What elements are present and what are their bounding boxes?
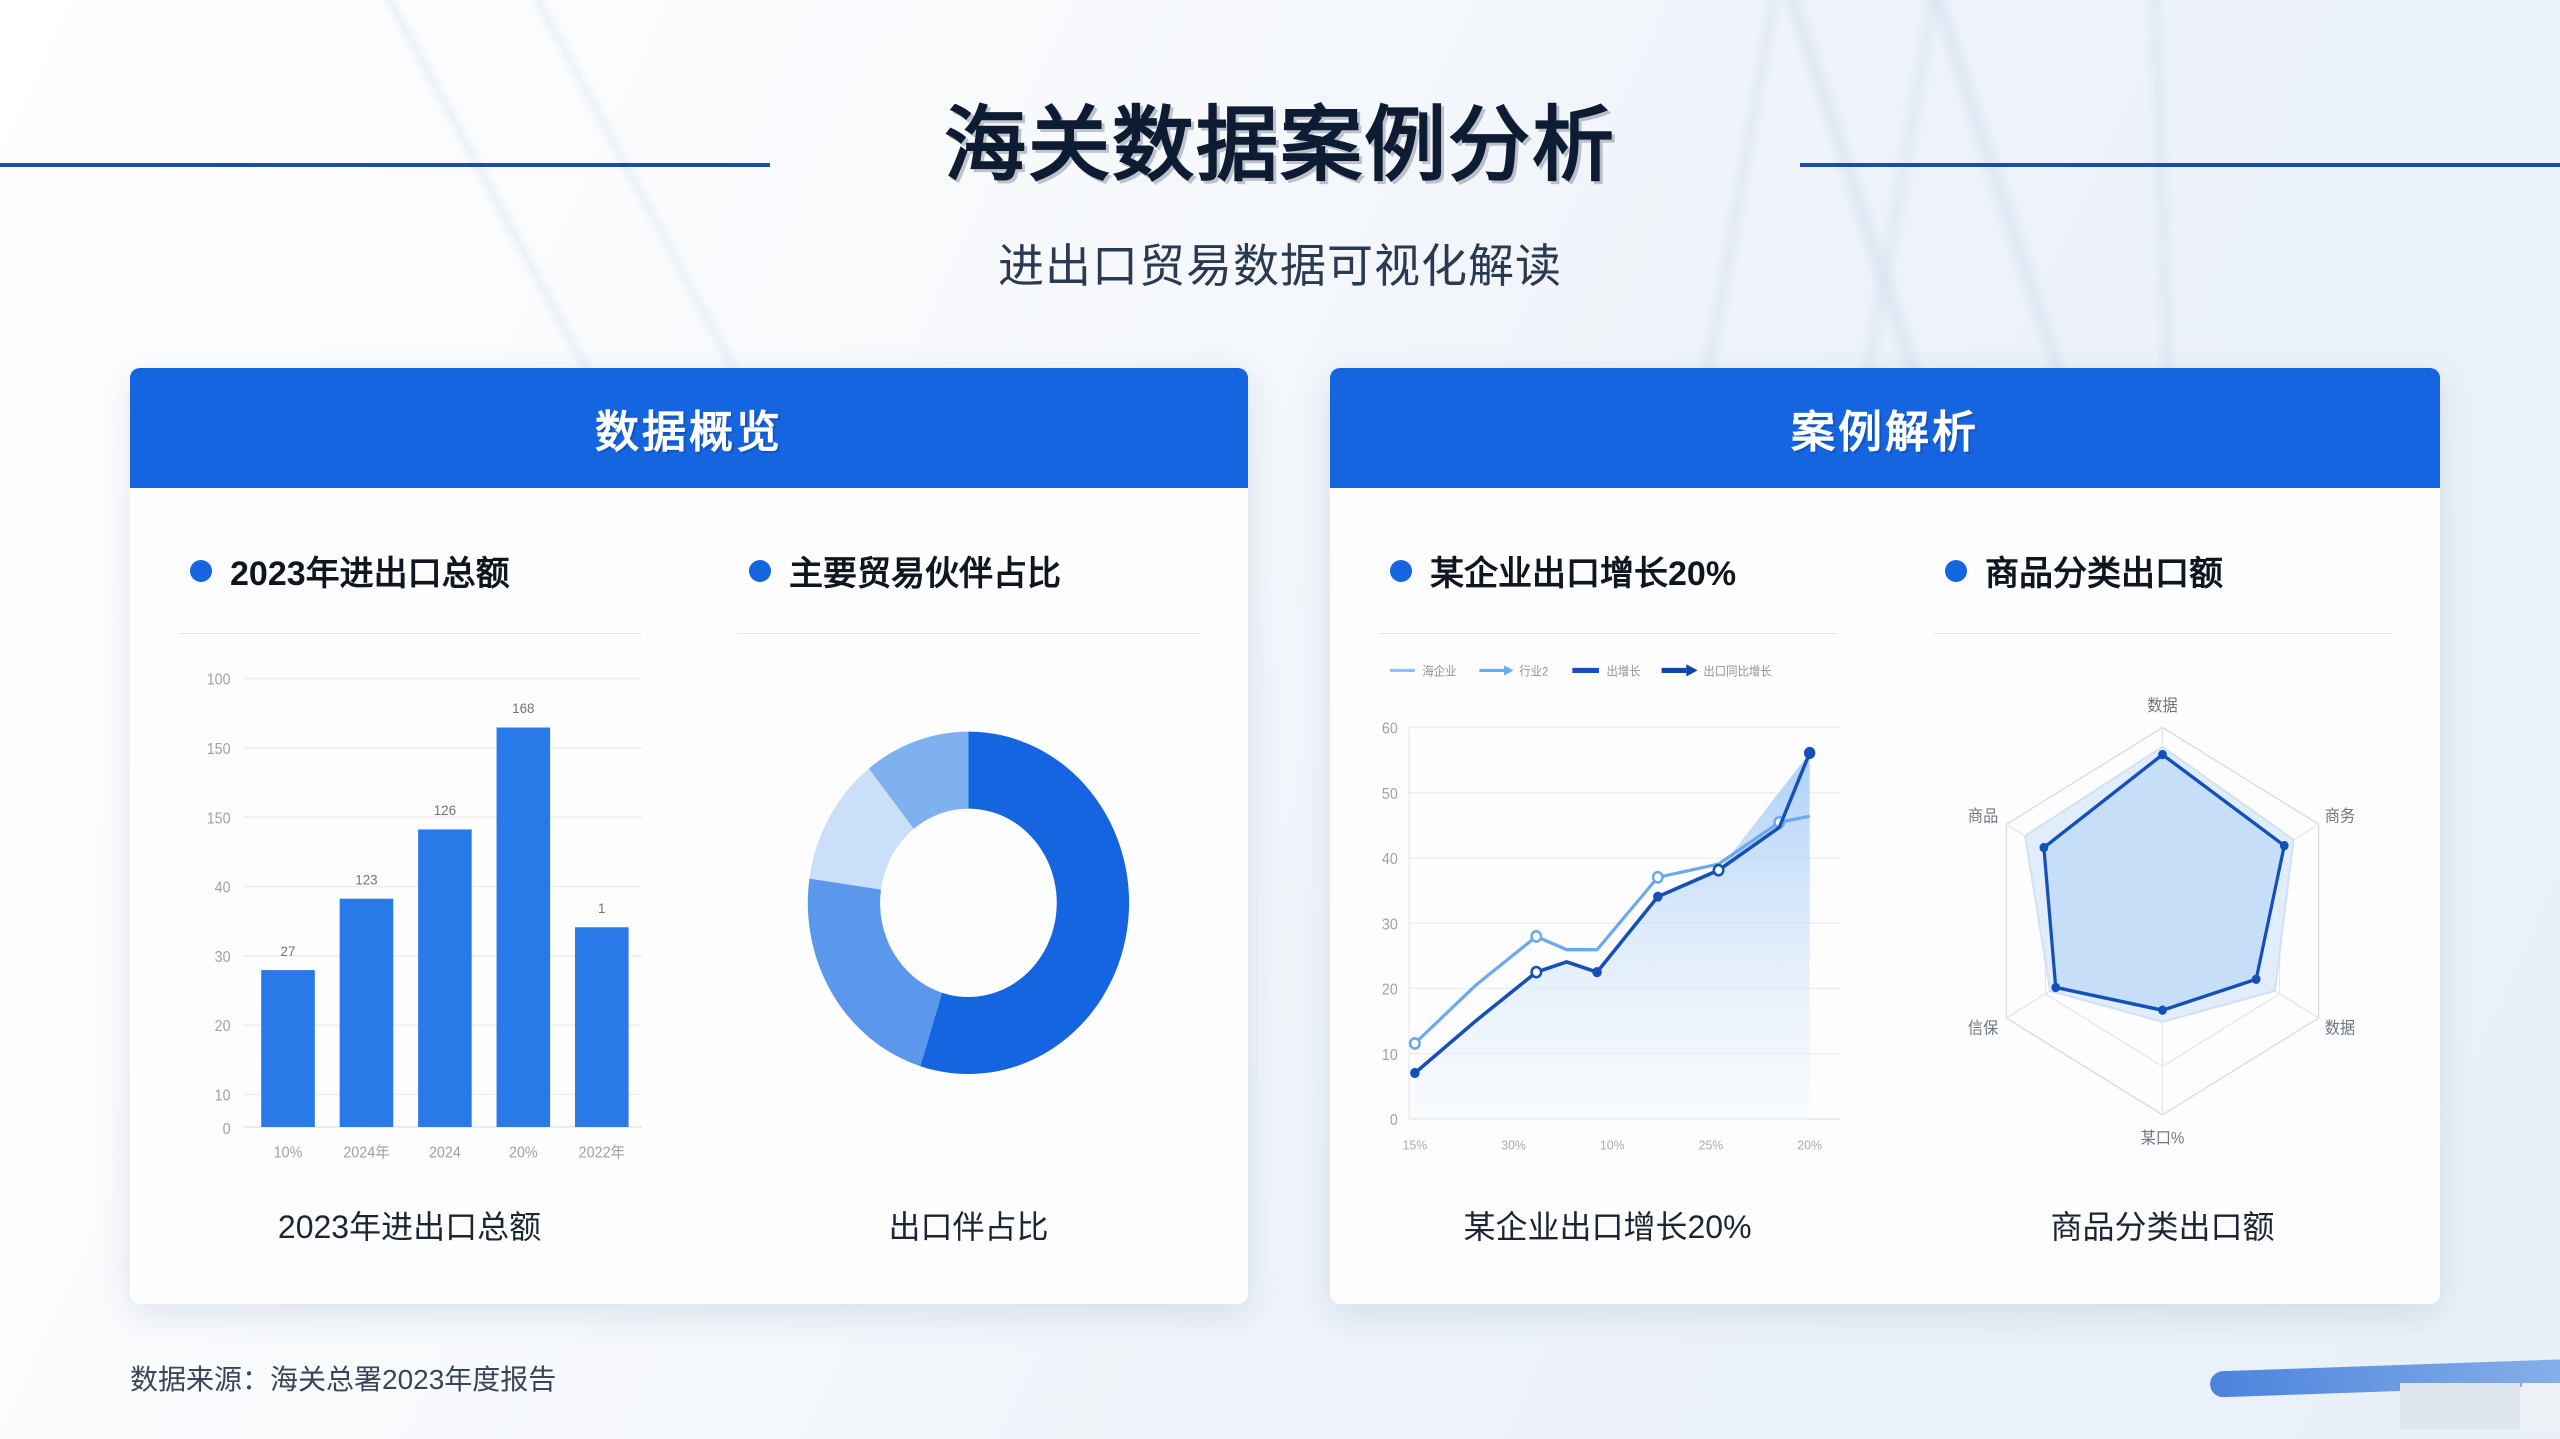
panel-title-export-growth: 某企业出口增长20% (1390, 546, 1859, 595)
radar-grid (2006, 728, 2318, 1115)
panel-caption-trade-partner-share: 出口伴占比 (689, 1202, 1248, 1248)
panel-divider (1378, 633, 1837, 634)
y-tick-label: 10 (215, 1088, 231, 1104)
y-tick-label: 0 (1390, 1113, 1398, 1130)
radar-series-main (2044, 755, 2284, 1011)
bullet-dot-icon (1390, 560, 1412, 582)
bar-value-label: 126 (434, 802, 457, 818)
radar-axis-label: 数据 (2147, 697, 2178, 716)
line-chart-y-ticks: 0 10 20 30 40 50 60 (1382, 721, 1398, 1129)
bar (497, 728, 551, 1128)
bar (340, 899, 394, 1127)
bar-chart: 100 150 150 40 30 20 10 0 (156, 648, 663, 1178)
line-chart-svg: 海企业 行业2 出增长 出口同比增长 (1356, 648, 1859, 1178)
bullet-dot-icon (749, 560, 771, 582)
panel-title-import-export-total: 2023年进出口总额 (190, 546, 663, 595)
donut-slice (808, 879, 942, 1067)
bar-value-label: 27 (281, 942, 296, 958)
y-tick-label: 10 (1382, 1047, 1398, 1064)
legend-label: 出增长 (1607, 664, 1641, 678)
panel-caption-export-growth: 某企业出口增长20% (1330, 1202, 1885, 1248)
panel-title-category-export: 商品分类出口额 (1945, 546, 2414, 595)
bar-chart-y-ticks: 100 150 150 40 30 20 10 0 (207, 672, 231, 1138)
page-subtitle: 进出口贸易数据可视化解读 (0, 230, 2560, 296)
radar-axis-label: 信保 (1968, 1019, 1999, 1038)
panel-caption-import-export-total: 2023年进出口总额 (130, 1202, 689, 1248)
donut-chart (715, 648, 1222, 1178)
bar-chart-svg: 100 150 150 40 30 20 10 0 (156, 648, 663, 1178)
x-tick-label: 20% (1797, 1137, 1822, 1153)
bar (261, 970, 315, 1127)
card-data-overview: 数据概览 2023年进出口总额 (130, 368, 1248, 1304)
bar (418, 829, 472, 1127)
y-tick-label: 20 (215, 1019, 231, 1035)
y-tick-label: 100 (207, 672, 231, 688)
panel-trade-partner-share: 主要贸易伙伴占比 出口伴占比 (689, 488, 1248, 1304)
bar-chart-bars (261, 728, 628, 1128)
panel-title-trade-partner-share: 主要贸易伙伴占比 (749, 546, 1222, 595)
card-header-case-analysis: 案例解析 (1330, 368, 2440, 488)
x-tick-label: 30% (1501, 1137, 1526, 1153)
panel-title-label: 某企业出口增长20% (1430, 546, 1736, 595)
y-tick-label: 20 (1382, 982, 1398, 999)
corner-block-light (2400, 1383, 2520, 1429)
bar-chart-x-ticks: 10% 2024年 2024 20% 2022年 (274, 1144, 625, 1162)
data-source-note: 数据来源：海关总署2023年度报告 (130, 1358, 556, 1398)
x-tick-label: 2022年 (579, 1144, 625, 1162)
panel-export-growth: 某企业出口增长20% 海企业 (1330, 488, 1885, 1304)
line-chart-legend: 海企业 行业2 出增长 出口同比增长 (1390, 664, 1772, 678)
y-tick-label: 40 (1382, 852, 1398, 869)
x-tick-label: 10% (1600, 1137, 1625, 1153)
x-tick-label: 20% (509, 1145, 538, 1161)
line-chart: 海企业 行业2 出增长 出口同比增长 (1356, 648, 1859, 1178)
bullet-dot-icon (190, 560, 212, 582)
y-tick-label: 50 (1382, 786, 1398, 803)
y-tick-label: 150 (207, 742, 231, 758)
y-tick-label: 30 (1382, 917, 1398, 934)
radar-axis-label: 某口% (2141, 1129, 2185, 1148)
x-tick-label: 15% (1402, 1137, 1427, 1153)
line-chart-area (1415, 753, 1810, 1119)
corner-accent-bar (2210, 1358, 2560, 1397)
radar-axis-label: 数据 (2325, 1019, 2356, 1038)
panel-divider (737, 633, 1200, 634)
panel-divider (178, 633, 641, 634)
panel-title-label: 2023年进出口总额 (230, 546, 510, 595)
corner-decoration (2160, 1319, 2560, 1439)
card-header-data-overview: 数据概览 (130, 368, 1248, 488)
bar-value-label: 1 (598, 900, 606, 916)
card-case-analysis: 案例解析 某企业出口增长20% (1330, 368, 2440, 1304)
page-title: 海关数据案例分析 (0, 78, 2560, 197)
radar-axis-label: 商品 (1968, 807, 1998, 826)
bullet-dot-icon (1945, 560, 1967, 582)
legend-label: 出口同比增长 (1703, 664, 1771, 678)
page-header: 海关数据案例分析 进出口贸易数据可视化解读 (0, 0, 2560, 340)
donut-chart-svg (715, 648, 1222, 1178)
card-body-data-overview: 2023年进出口总额 (130, 488, 1248, 1304)
panel-title-label: 主要贸易伙伴占比 (789, 546, 1061, 595)
x-tick-label: 10% (274, 1145, 303, 1161)
y-tick-label: 0 (223, 1122, 231, 1138)
radar-chart: 数据 商务 数据 某口% 信保 商品 (1911, 648, 2414, 1178)
radar-chart-svg: 数据 商务 数据 某口% 信保 商品 (1911, 648, 2414, 1178)
radar-axis-label: 商务 (2325, 807, 2356, 826)
legend-label: 海企业 (1422, 664, 1456, 678)
bar (575, 927, 629, 1127)
line-chart-x-ticks: 15% 30% 10% 25% 20% (1402, 1137, 1822, 1153)
panel-import-export-total: 2023年进出口总额 (130, 488, 689, 1304)
x-tick-label: 2024年 (343, 1144, 389, 1162)
donut-slices (808, 732, 1129, 1074)
panel-caption-category-export: 商品分类出口额 (1885, 1202, 2440, 1248)
panel-title-label: 商品分类出口额 (1985, 546, 2223, 595)
legend-label: 行业2 (1519, 664, 1548, 678)
y-tick-label: 150 (207, 811, 231, 827)
bar-value-label: 168 (512, 700, 535, 716)
corner-block-pale (2522, 1383, 2560, 1429)
x-tick-label: 2024 (429, 1145, 461, 1161)
y-tick-label: 40 (215, 880, 231, 896)
card-body-case-analysis: 某企业出口增长20% 海企业 (1330, 488, 2440, 1304)
panel-category-export: 商品分类出口额 (1885, 488, 2440, 1304)
y-tick-label: 60 (1382, 721, 1398, 738)
panel-divider (1933, 633, 2392, 634)
y-tick-label: 30 (215, 950, 231, 966)
x-tick-label: 25% (1699, 1137, 1724, 1153)
bar-value-label: 123 (355, 871, 378, 887)
